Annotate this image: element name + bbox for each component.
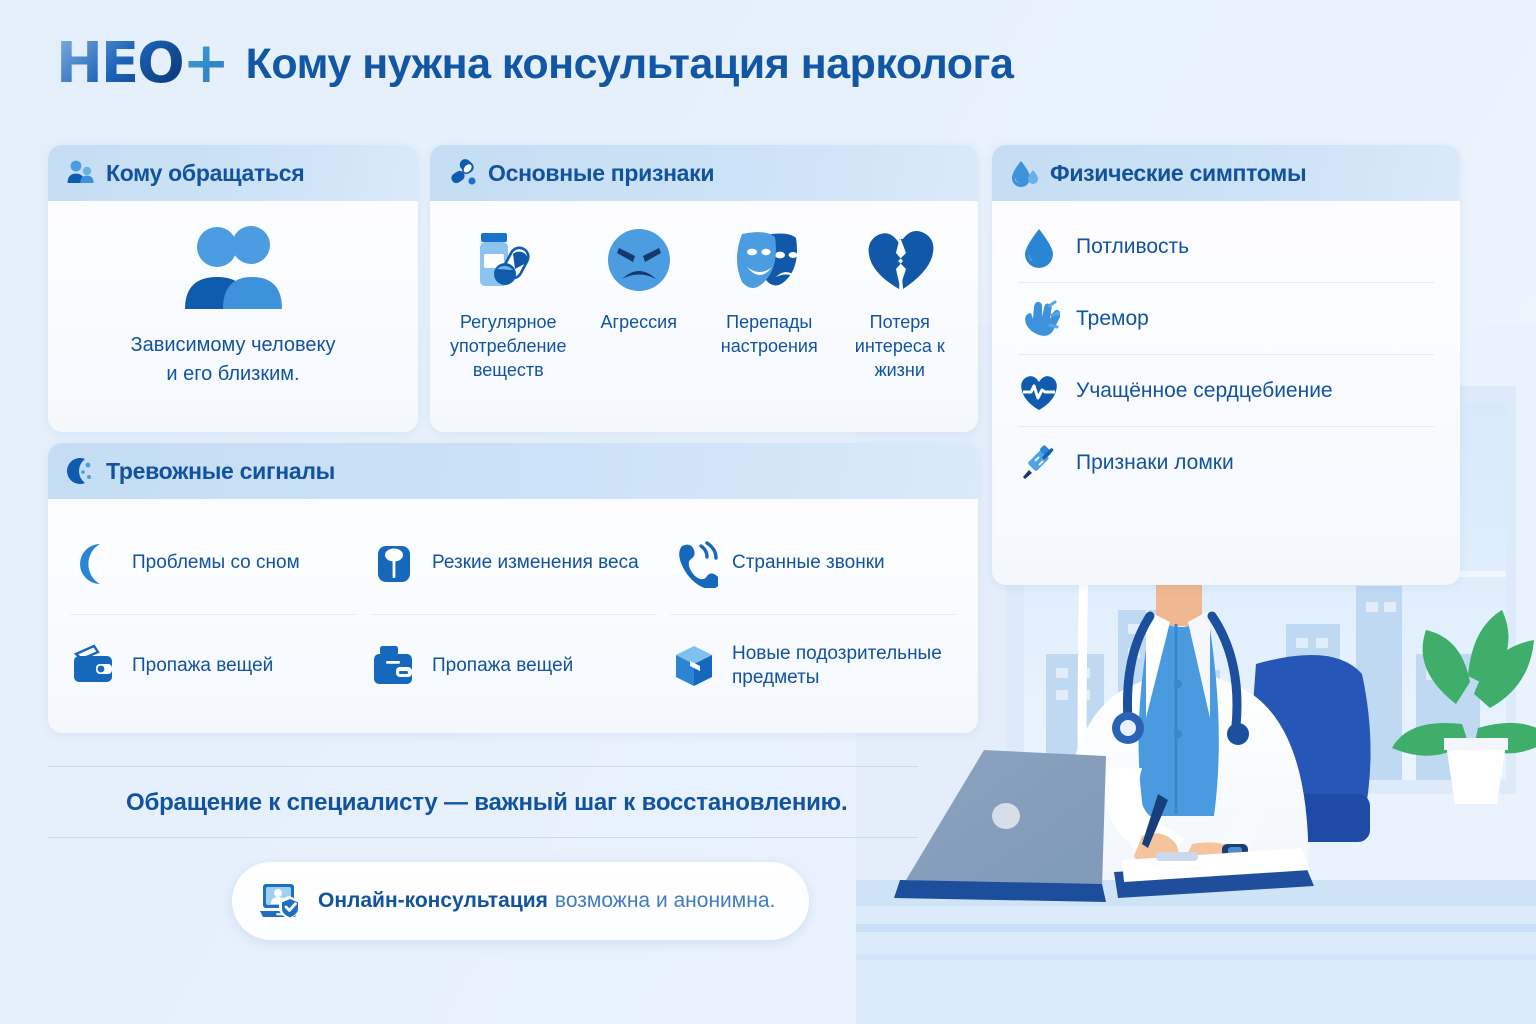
card-header: Тревожные сигналы	[48, 443, 978, 499]
theater-masks-icon	[730, 221, 808, 299]
laptop-user-verified-icon	[258, 878, 304, 924]
sign-label: Потеря интереса к жизни	[836, 311, 965, 382]
desk	[856, 880, 1536, 1024]
symptom-row: Учащённое сердцебиение	[1018, 355, 1434, 427]
card-title: Тревожные сигналы	[106, 458, 335, 485]
footer-divider-bottom	[48, 837, 918, 838]
moon-stars-icon	[70, 540, 118, 588]
symptom-label: Учащённое сердцебиение	[1076, 377, 1333, 404]
weight-scale-icon	[370, 540, 418, 588]
sign-item: Перепады настроения	[705, 221, 834, 382]
card-title: Основные признаки	[488, 160, 714, 187]
alert-item: Пропажа вещей	[370, 615, 656, 717]
alert-item: Новые подозрительные предметы	[670, 615, 956, 717]
card-body: Проблемы со сном Резкие изменения веса	[48, 499, 978, 717]
package-box-icon	[670, 642, 718, 690]
symptom-label: Признаки ломки	[1076, 449, 1234, 476]
card-who-to-contact: Кому обращаться Зависимому человеку и ег…	[48, 145, 418, 432]
card-physical-symptoms: Физические симптомы Потливость Тр	[992, 145, 1460, 585]
people-icon	[66, 158, 96, 188]
sign-item: Регулярное употребление веществ	[444, 221, 573, 382]
badge-text: Онлайн-консультация возможна и анонимна.	[318, 889, 775, 913]
alert-item: Проблемы со сном	[70, 513, 356, 615]
card-caption-text: Зависимому человеку и его близким.	[131, 334, 336, 385]
card-body: Зависимому человеку и его близким.	[48, 201, 418, 389]
card-title: Кому обращаться	[106, 160, 304, 187]
sign-label: Агрессия	[601, 311, 677, 335]
alert-label: Странные звонки	[732, 551, 885, 575]
card-caption: Зависимому человеку и его близким.	[131, 331, 336, 389]
sign-item: Агрессия	[575, 221, 704, 382]
brand-logo: НЕО+	[56, 36, 228, 92]
alert-item: Резкие изменения веса	[370, 513, 656, 615]
card-title: Физические симптомы	[1050, 160, 1306, 187]
badge-emphasis: Онлайн-консультация	[318, 889, 548, 913]
badge-rest: возможна и анонимна.	[555, 889, 775, 913]
symptom-label: Потливость	[1076, 233, 1189, 260]
sign-label: Регулярное употребление веществ	[444, 311, 573, 382]
card-body: Регулярное употребление веществ Агрессия	[430, 201, 978, 382]
pills-icon	[448, 158, 478, 188]
symptom-row: Тремор	[1018, 283, 1434, 355]
alert-label: Новые подозрительные предметы	[732, 642, 956, 691]
wallet-closed-icon	[370, 642, 418, 690]
sign-label: Перепады настроения	[705, 311, 834, 359]
two-people-icon	[171, 223, 295, 315]
water-drop-icon	[1018, 226, 1060, 268]
angry-face-icon	[600, 221, 678, 299]
card-body: Потливость Тремор Учащённое сердце	[992, 201, 1460, 499]
alert-item: Пропажа вещей	[70, 615, 356, 717]
page-title: Кому нужна консультация нарколога	[246, 40, 1014, 89]
symptom-row: Признаки ломки	[1018, 427, 1434, 499]
footer: Обращение к специалисту — важный шаг к в…	[48, 766, 918, 838]
card-main-signs: Основные признаки Регулярное употреблени…	[430, 145, 978, 432]
online-consultation-badge[interactable]: Онлайн-консультация возможна и анонимна.	[232, 862, 809, 940]
footer-statement: Обращение к специалисту — важный шаг к в…	[48, 767, 918, 837]
card-alert-signals: Тревожные сигналы Проблемы со сном	[48, 443, 978, 733]
wallet-open-icon	[70, 642, 118, 690]
symptom-label: Тремор	[1076, 305, 1149, 332]
alert-label: Пропажа вещей	[132, 654, 273, 678]
card-header: Кому обращаться	[48, 145, 418, 201]
brand-logo-plus: +	[183, 31, 228, 96]
symptom-row: Потливость	[1018, 211, 1434, 283]
moon-stars-icon	[66, 456, 96, 486]
pill-bottle-icon	[469, 221, 547, 299]
alert-item: Странные звонки	[670, 513, 956, 615]
alert-label: Пропажа вещей	[432, 654, 573, 678]
alert-label: Проблемы со сном	[132, 551, 300, 575]
alert-label: Резкие изменения веса	[432, 551, 639, 575]
card-header: Основные признаки	[430, 145, 978, 201]
sign-item: Потеря интереса к жизни	[836, 221, 965, 382]
card-header: Физические симптомы	[992, 145, 1460, 201]
droplets-icon	[1010, 158, 1040, 188]
syringe-icon	[1018, 442, 1060, 484]
phone-ringing-icon	[670, 540, 718, 588]
heart-pulse-icon	[1018, 370, 1060, 412]
brand-logo-text: НЕО	[56, 31, 183, 96]
trembling-hand-icon	[1018, 298, 1060, 340]
broken-heart-icon	[861, 221, 939, 299]
page-header: НЕО+ Кому нужна консультация нарколога	[56, 36, 1013, 92]
